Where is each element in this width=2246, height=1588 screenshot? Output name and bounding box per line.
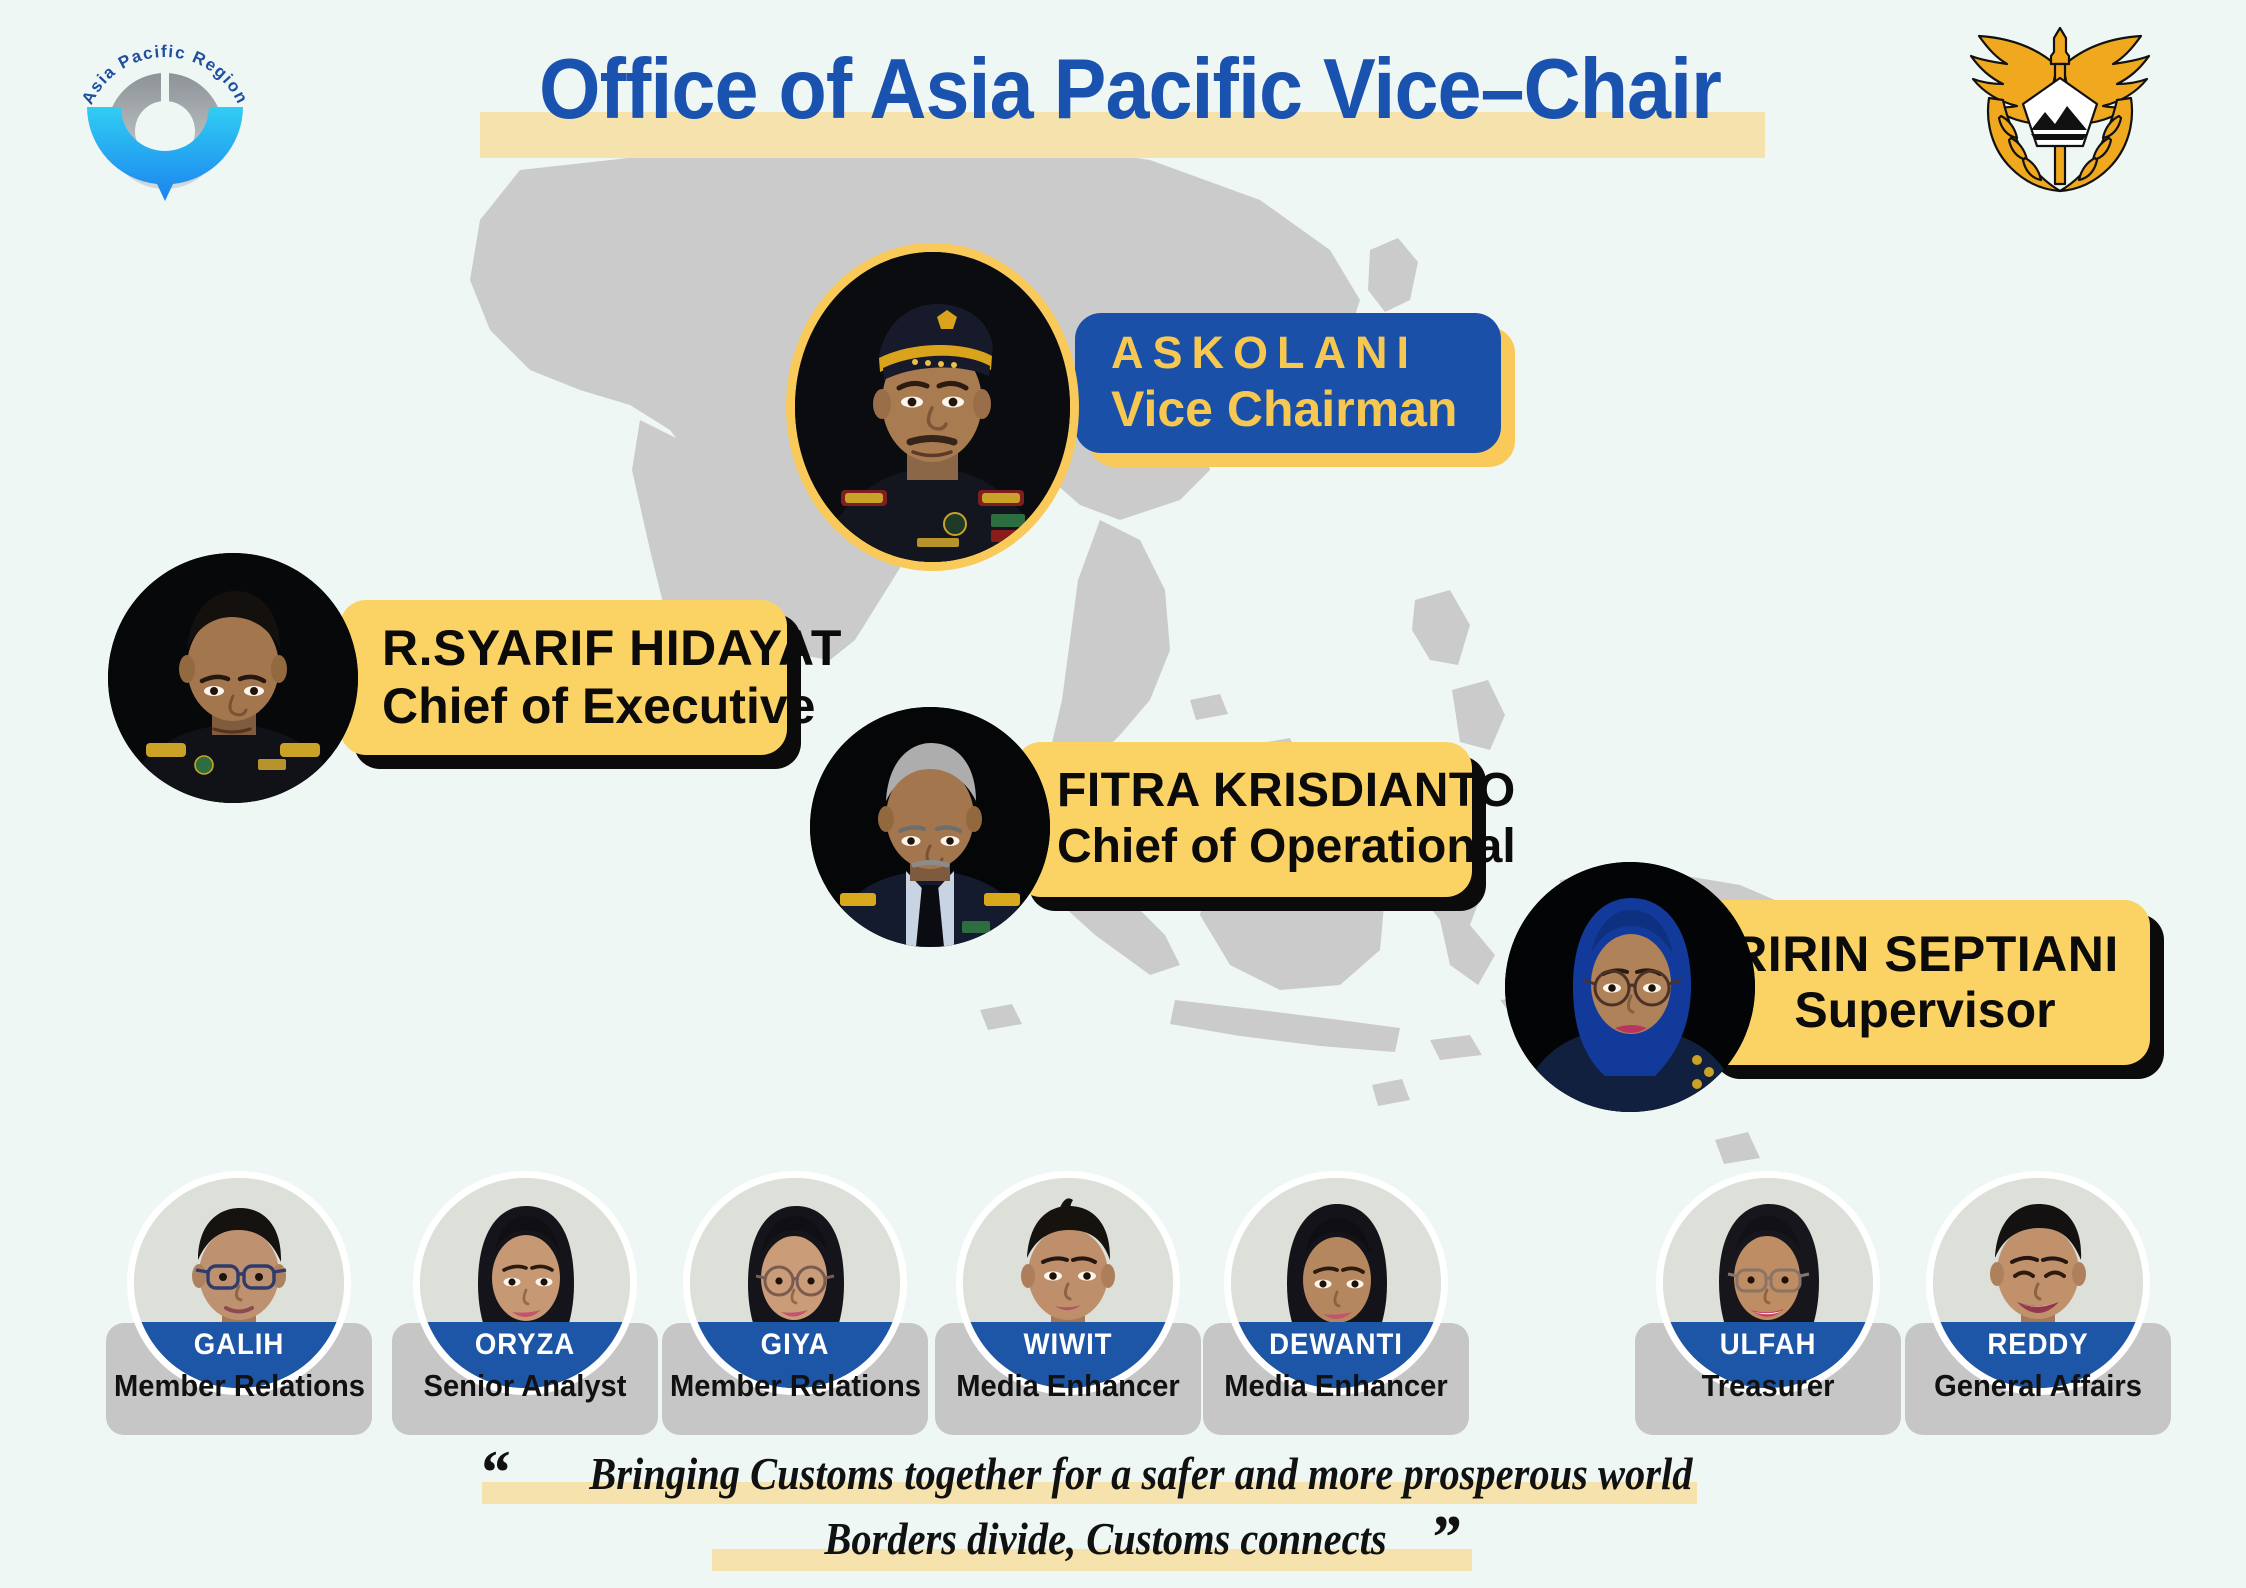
page-title: Office of Asia Pacific Vice–Chair [479,30,1781,150]
page-title-block: Office of Asia Pacific Vice–Chair [430,30,1830,160]
staff-name: WIWIT [971,1328,1164,1362]
leader-role: Supervisor [1794,984,2055,1037]
staff-name: GALIH [142,1328,335,1362]
leader-photo-askolani[interactable] [795,252,1070,562]
staff-role: Media Enhancer [1211,1368,1461,1404]
staff-role: Member Relations [670,1368,920,1404]
asia-pacific-region-logo: Asia Pacific Region [55,25,275,215]
staff-name: REDDY [1941,1328,2134,1362]
staff-name: ORYZA [428,1328,621,1362]
leader-photo-ririn[interactable] [1505,862,1755,1112]
leader-name: FITRA KRISDIANTO [1057,766,1472,816]
quote-line-2: Borders divide, Customs connects [824,1506,1386,1572]
leader-role: Chief of Executive [382,680,787,733]
leader-name: RIRIN SEPTIANI [1731,928,2119,980]
staff-role: Member Relations [114,1368,364,1404]
quote-close-mark: ” [1429,1504,1460,1572]
staff-role: Treasurer [1643,1368,1893,1404]
quote-line-1: Bringing Customs together for a safer an… [589,1441,1692,1507]
staff-name: ULFAH [1671,1328,1864,1362]
leader-photo-fitra[interactable] [810,707,1050,947]
staff-name: GIYA [698,1328,891,1362]
staff-role: Senior Analyst [400,1368,650,1404]
tagline-quote: “ Bringing Customs together for a safer … [0,1438,2246,1574]
leader-label-askolani: ASKOLANI Vice Chairman [1075,313,1501,453]
leader-name: R.SYARIF HIDAYAT [382,622,787,674]
poster-canvas: Asia Pacific Region [0,0,2246,1588]
staff-role: Media Enhancer [943,1368,1193,1404]
leader-label-ririn: RIRIN SEPTIANI Supervisor [1700,900,2150,1065]
staff-role: General Affairs [1913,1368,2163,1404]
leader-role: Chief of Operational [1057,822,1472,873]
leader-name: ASKOLANI [1111,330,1501,377]
leader-role: Vice Chairman [1111,383,1501,436]
leader-label-syarif: R.SYARIF HIDAYAT Chief of Executive [340,600,787,755]
staff-name: DEWANTI [1239,1328,1432,1362]
quote-open-mark: “ [478,1439,509,1507]
leader-label-fitra: FITRA KRISDIANTO Chief of Operational [1015,742,1472,897]
leader-photo-syarif[interactable] [108,553,358,803]
indonesia-customs-logo [1945,20,2175,195]
